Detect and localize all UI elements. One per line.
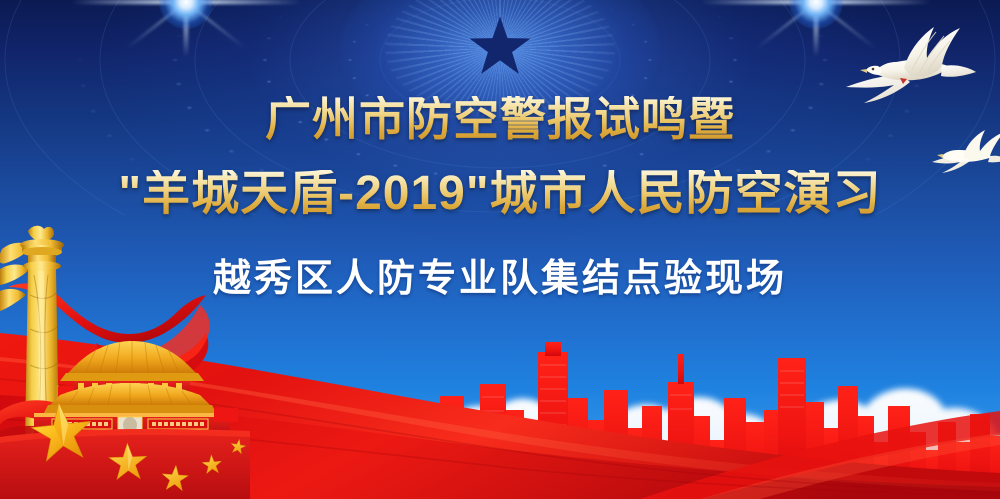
title-line-1: 广州市防空警报试鸣暨: [0, 96, 1000, 142]
flag-star-4: [202, 454, 223, 474]
flag-star-1: [29, 400, 94, 462]
flag-star-2: [108, 443, 147, 480]
title-line-2: "羊城天盾-2019"城市人民防空演习: [0, 170, 1000, 218]
ceiling-star-icon: [468, 15, 532, 77]
flag-star-5: [230, 438, 247, 454]
flag-stars-row: [0, 389, 300, 499]
subtitle-line: 越秀区人防专业队集结点验现场: [0, 260, 1000, 298]
flag-star-3: [161, 464, 189, 491]
propaganda-banner: 广州市防空警报试鸣暨 "羊城天盾-2019"城市人民防空演习 越秀区人防专业队集…: [0, 0, 1000, 499]
